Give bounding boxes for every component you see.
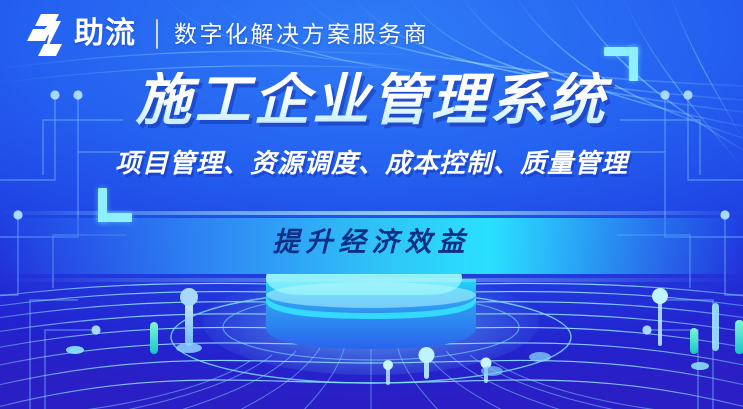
brand-tagline: 数字化解决方案服务商 xyxy=(174,23,429,46)
corner-bracket-bottom-left xyxy=(98,188,132,222)
page-title: 施工企业管理系统 xyxy=(0,72,743,128)
feature-subtitle: 项目管理、资源调度、成本控制、质量管理 xyxy=(0,150,743,176)
highlight-band-text: 提升经济效益 xyxy=(0,229,743,256)
brand-name: 助流 xyxy=(74,19,136,49)
lightning-bolt-parallelogram-icon xyxy=(22,11,68,57)
promo-banner: 助流 数字化解决方案服务商 施工企业管理系统 项目管理、资源调度、成本控制、质量… xyxy=(0,0,743,409)
logo-divider xyxy=(156,19,158,49)
brand-logo-row: 助流 数字化解决方案服务商 xyxy=(22,10,429,58)
